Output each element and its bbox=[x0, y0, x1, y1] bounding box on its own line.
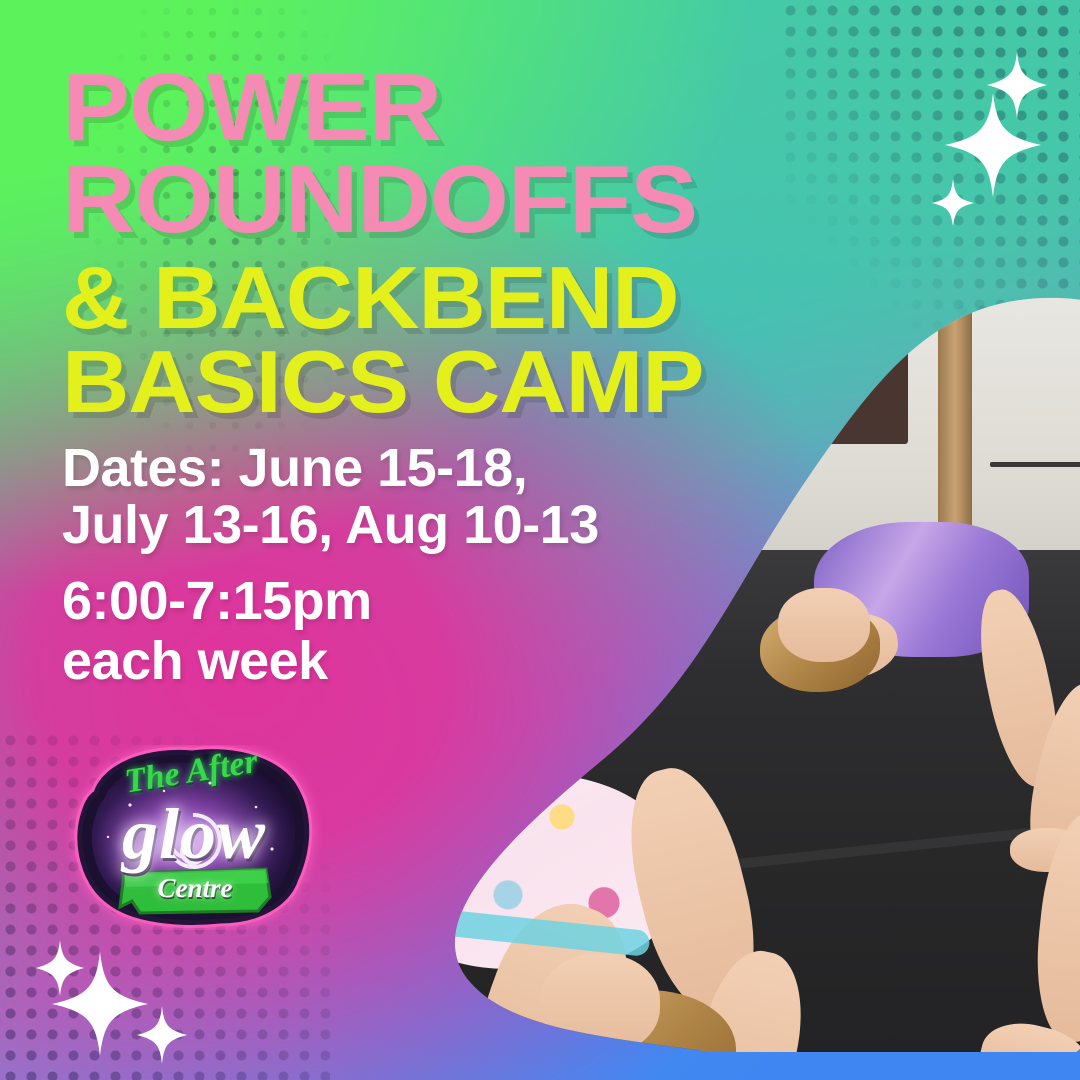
wall-bar bbox=[990, 462, 1080, 467]
logo-the-after-glow-centre[interactable]: The After glow Centre bbox=[60, 745, 325, 930]
dates-line-2: July 13-16, Aug 10-13 bbox=[62, 497, 599, 553]
sparkle-cluster-top-right bbox=[905, 45, 1080, 225]
poster-canvas: POWER ROUNDOFFS & BACKBEND BASICS CAMP D… bbox=[0, 0, 1080, 1080]
headline-line-2: ROUNDOFFS bbox=[62, 156, 697, 244]
frequency-text: each week bbox=[62, 633, 328, 689]
gymnast-right-edge bbox=[920, 812, 1080, 1052]
headline-line-3: & BACKBEND bbox=[62, 258, 678, 339]
logo-wordmark: glow bbox=[76, 793, 312, 879]
sparkle-cluster-bottom-left bbox=[22, 930, 222, 1080]
time-text: 6:00-7:15pm bbox=[62, 573, 372, 629]
logo-banner-text: Centre bbox=[120, 873, 270, 913]
headline-line-1: POWER bbox=[62, 64, 441, 152]
headline-line-4: BASICS CAMP bbox=[62, 342, 703, 423]
dates-line-1: Dates: June 15-18, bbox=[62, 440, 527, 496]
